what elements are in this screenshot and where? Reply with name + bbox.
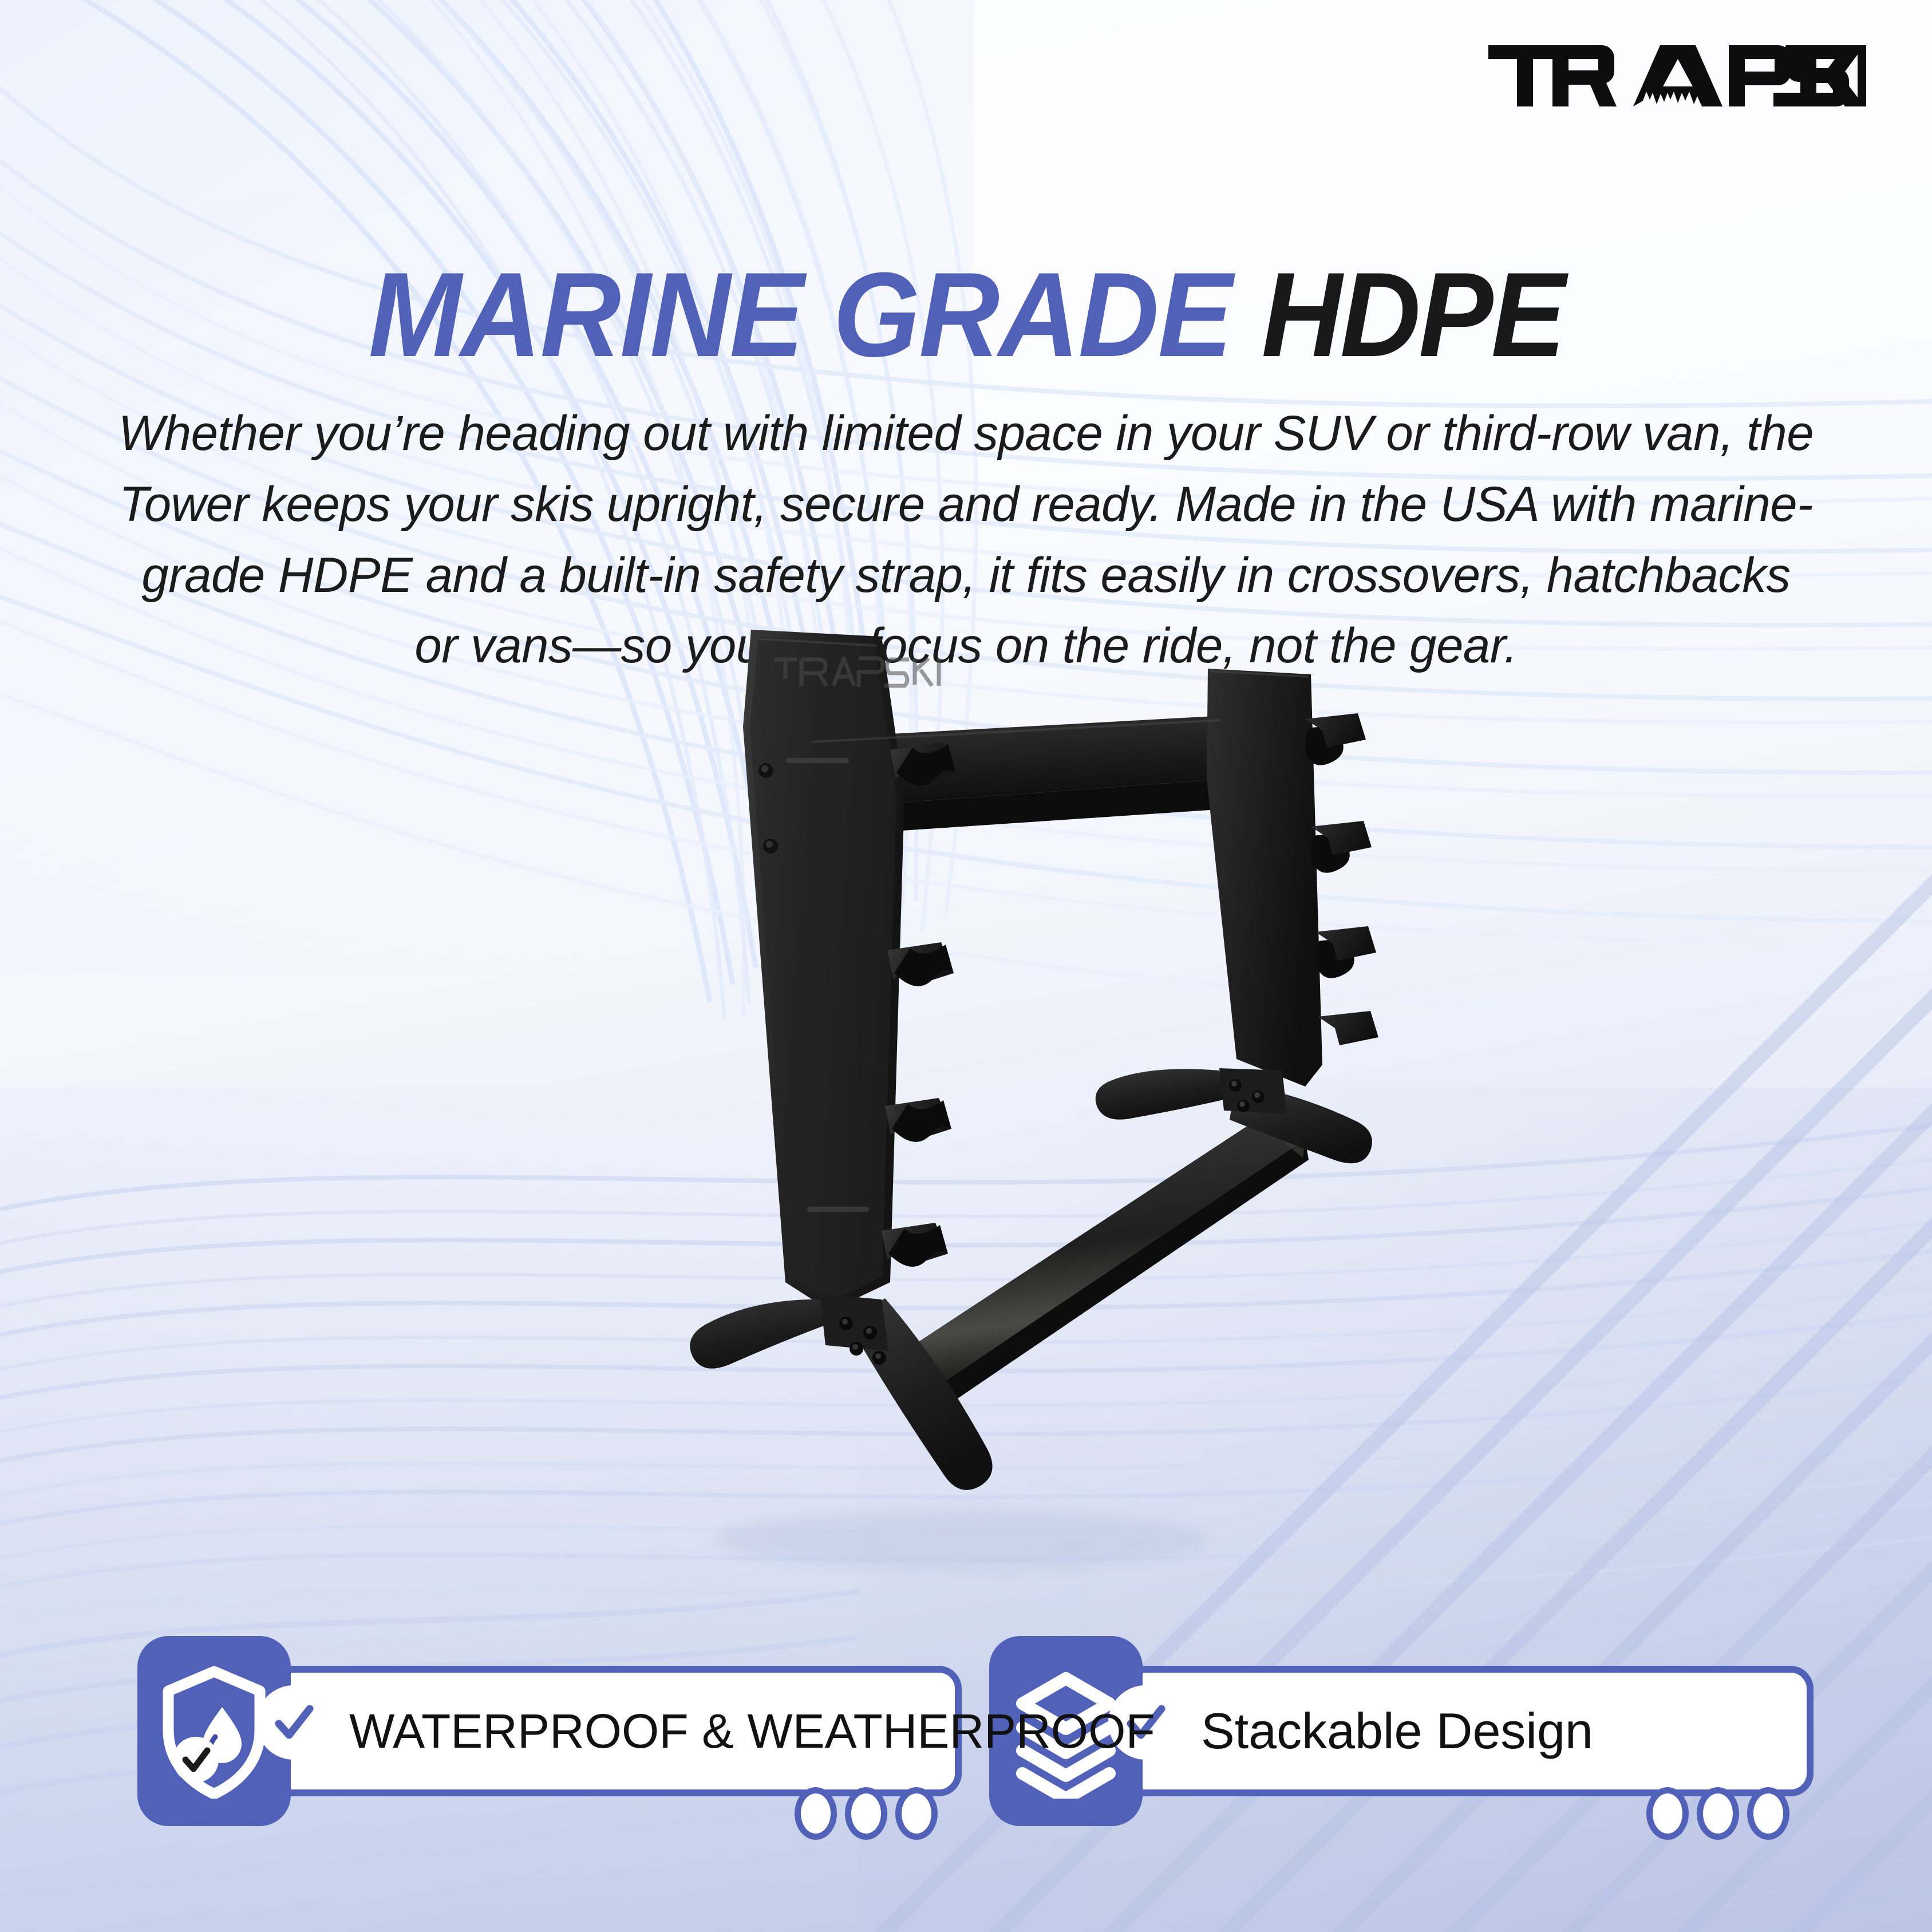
brand-logo	[1488, 43, 1866, 109]
dot-2	[1697, 1787, 1739, 1840]
ski-rack-illustration	[561, 607, 1431, 1591]
feature-badge-waterproof[interactable]: WATERPROOF & WEATHERPROOF	[137, 1636, 962, 1826]
page-title: MARINE GRADE HDPE	[68, 252, 1864, 377]
check-icon	[267, 1696, 320, 1749]
dot-3	[895, 1787, 938, 1840]
dot-3	[1747, 1787, 1789, 1840]
dot-1	[795, 1787, 837, 1840]
shield-waterdrop-check-icon	[156, 1664, 272, 1799]
trapski-wordmark-icon	[1488, 43, 1866, 109]
headline-accent: MARINE GRADE	[369, 247, 1262, 382]
feature-dots	[760, 1786, 938, 1841]
feature-label: WATERPROOF & WEATHERPROOF	[349, 1666, 1155, 1796]
headline-dark: HDPE	[1262, 247, 1564, 382]
feature-dots	[1612, 1786, 1789, 1841]
poster-canvas: MARINE GRADE HDPE Whether you’re heading…	[0, 0, 1932, 1932]
feature-label: Stackable Design	[1201, 1666, 1593, 1796]
dot-1	[1646, 1787, 1689, 1840]
dot-2	[845, 1787, 887, 1840]
feature-check-badge	[256, 1685, 331, 1760]
product-image	[561, 607, 1431, 1591]
